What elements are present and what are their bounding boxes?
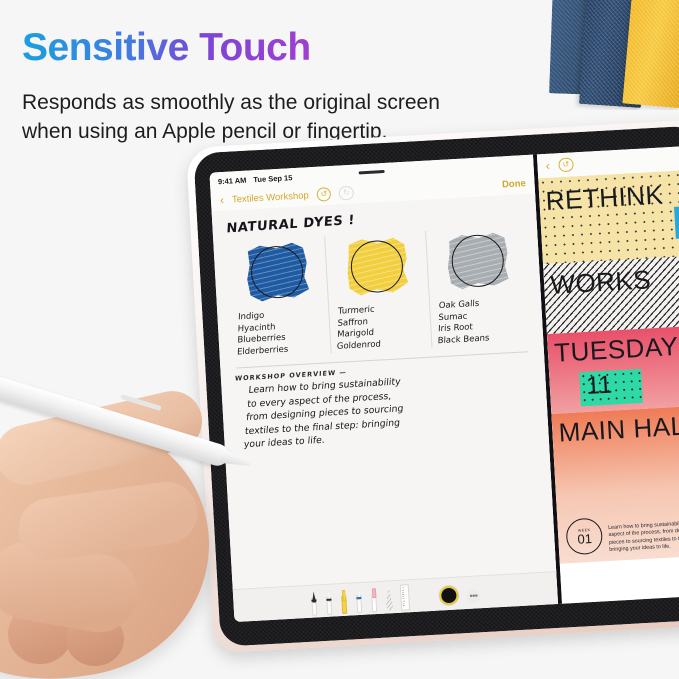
color-swatch-button[interactable] bbox=[439, 586, 459, 606]
pen-tool-icon[interactable] bbox=[310, 591, 318, 615]
undo-icon[interactable]: ↺ bbox=[558, 157, 573, 172]
page-title: Sensitive Touch bbox=[22, 26, 311, 70]
swatch-area bbox=[229, 237, 324, 308]
product-marketing-image: Sensitive Touch Responds as smoothly as … bbox=[0, 0, 679, 679]
status-time: 9:41 AM bbox=[218, 176, 247, 187]
subtitle-line-1: Responds as smoothly as the original scr… bbox=[22, 88, 542, 117]
dye-column-turmeric: Turmeric Saffron Marigold Goldenrod bbox=[325, 231, 432, 353]
dye-label-list: Turmeric Saffron Marigold Goldenrod bbox=[334, 302, 427, 353]
back-chevron-icon[interactable]: ‹ bbox=[545, 160, 550, 172]
poster-band-hatched: WORKS bbox=[543, 256, 679, 335]
eraser-tool-icon[interactable] bbox=[370, 588, 378, 612]
week-number: 01 bbox=[577, 531, 592, 545]
pencil-tool-icon[interactable] bbox=[325, 591, 333, 615]
dye-label-list: Oak Galls Sumac Iris Root Black Beans bbox=[434, 296, 527, 347]
dye-label-list: Indigo Hyacinth Blueberries Elderberries bbox=[234, 307, 327, 358]
poster-number: 11 bbox=[585, 371, 613, 401]
marker-tool-icon[interactable] bbox=[355, 589, 363, 613]
multitask-handle-icon[interactable] bbox=[359, 170, 385, 174]
highlighter-tool-icon[interactable] bbox=[340, 590, 348, 614]
palette-spacer bbox=[418, 609, 432, 610]
poster-green-block: 11 bbox=[579, 369, 643, 406]
poster-document[interactable]: RETHINK WORKS TUESDAY 11 MAIN HALL bbox=[539, 170, 679, 604]
poster-band-yellow: RETHINK bbox=[539, 170, 679, 265]
done-button[interactable]: Done bbox=[502, 178, 526, 190]
swatch-area bbox=[430, 225, 525, 296]
week-badge: WEEK 01 bbox=[566, 517, 604, 555]
fabric-swatches bbox=[549, 0, 679, 110]
poster-band-orange: MAIN HALL WEEK 01 Learn how to bring sus… bbox=[552, 405, 679, 563]
swatch-area bbox=[330, 231, 425, 302]
hand-with-stylus bbox=[0, 398, 310, 679]
undo-icon[interactable]: ↺ bbox=[316, 187, 331, 202]
split-view-right-pane: ‹ ↺ RETHINK WORKS TUESDAY 11 bbox=[537, 146, 679, 604]
lasso-tool-icon[interactable] bbox=[385, 587, 393, 611]
poster-line-2: WORKS bbox=[550, 264, 652, 301]
dye-column-indigo: Indigo Hyacinth Blueberries Elderberries bbox=[225, 236, 331, 358]
poster-line-1: RETHINK bbox=[545, 179, 664, 217]
poster-blue-block bbox=[674, 205, 679, 238]
note-title[interactable]: Textiles Workshop bbox=[232, 190, 309, 205]
poster-line-4: MAIN HALL bbox=[558, 410, 679, 449]
dye-column-oak-galls: Oak Galls Sumac Iris Root Black Beans bbox=[425, 225, 532, 347]
nav-spacer bbox=[362, 185, 494, 192]
status-date: Tue Sep 15 bbox=[253, 173, 292, 184]
redo-icon[interactable]: ↻ bbox=[339, 185, 354, 200]
poster-line-3: TUESDAY bbox=[553, 331, 679, 369]
poster-band-pink: TUESDAY 11 bbox=[547, 325, 679, 414]
more-options-button[interactable]: ••• bbox=[466, 589, 481, 604]
back-chevron-icon[interactable]: ‹ bbox=[220, 194, 225, 206]
poster-body-text: Learn how to bring sustainability to eve… bbox=[608, 519, 679, 555]
dye-columns: Indigo Hyacinth Blueberries Elderberries bbox=[223, 225, 533, 359]
gold-fabric bbox=[622, 0, 679, 108]
ruler-tool-icon[interactable] bbox=[400, 584, 410, 610]
